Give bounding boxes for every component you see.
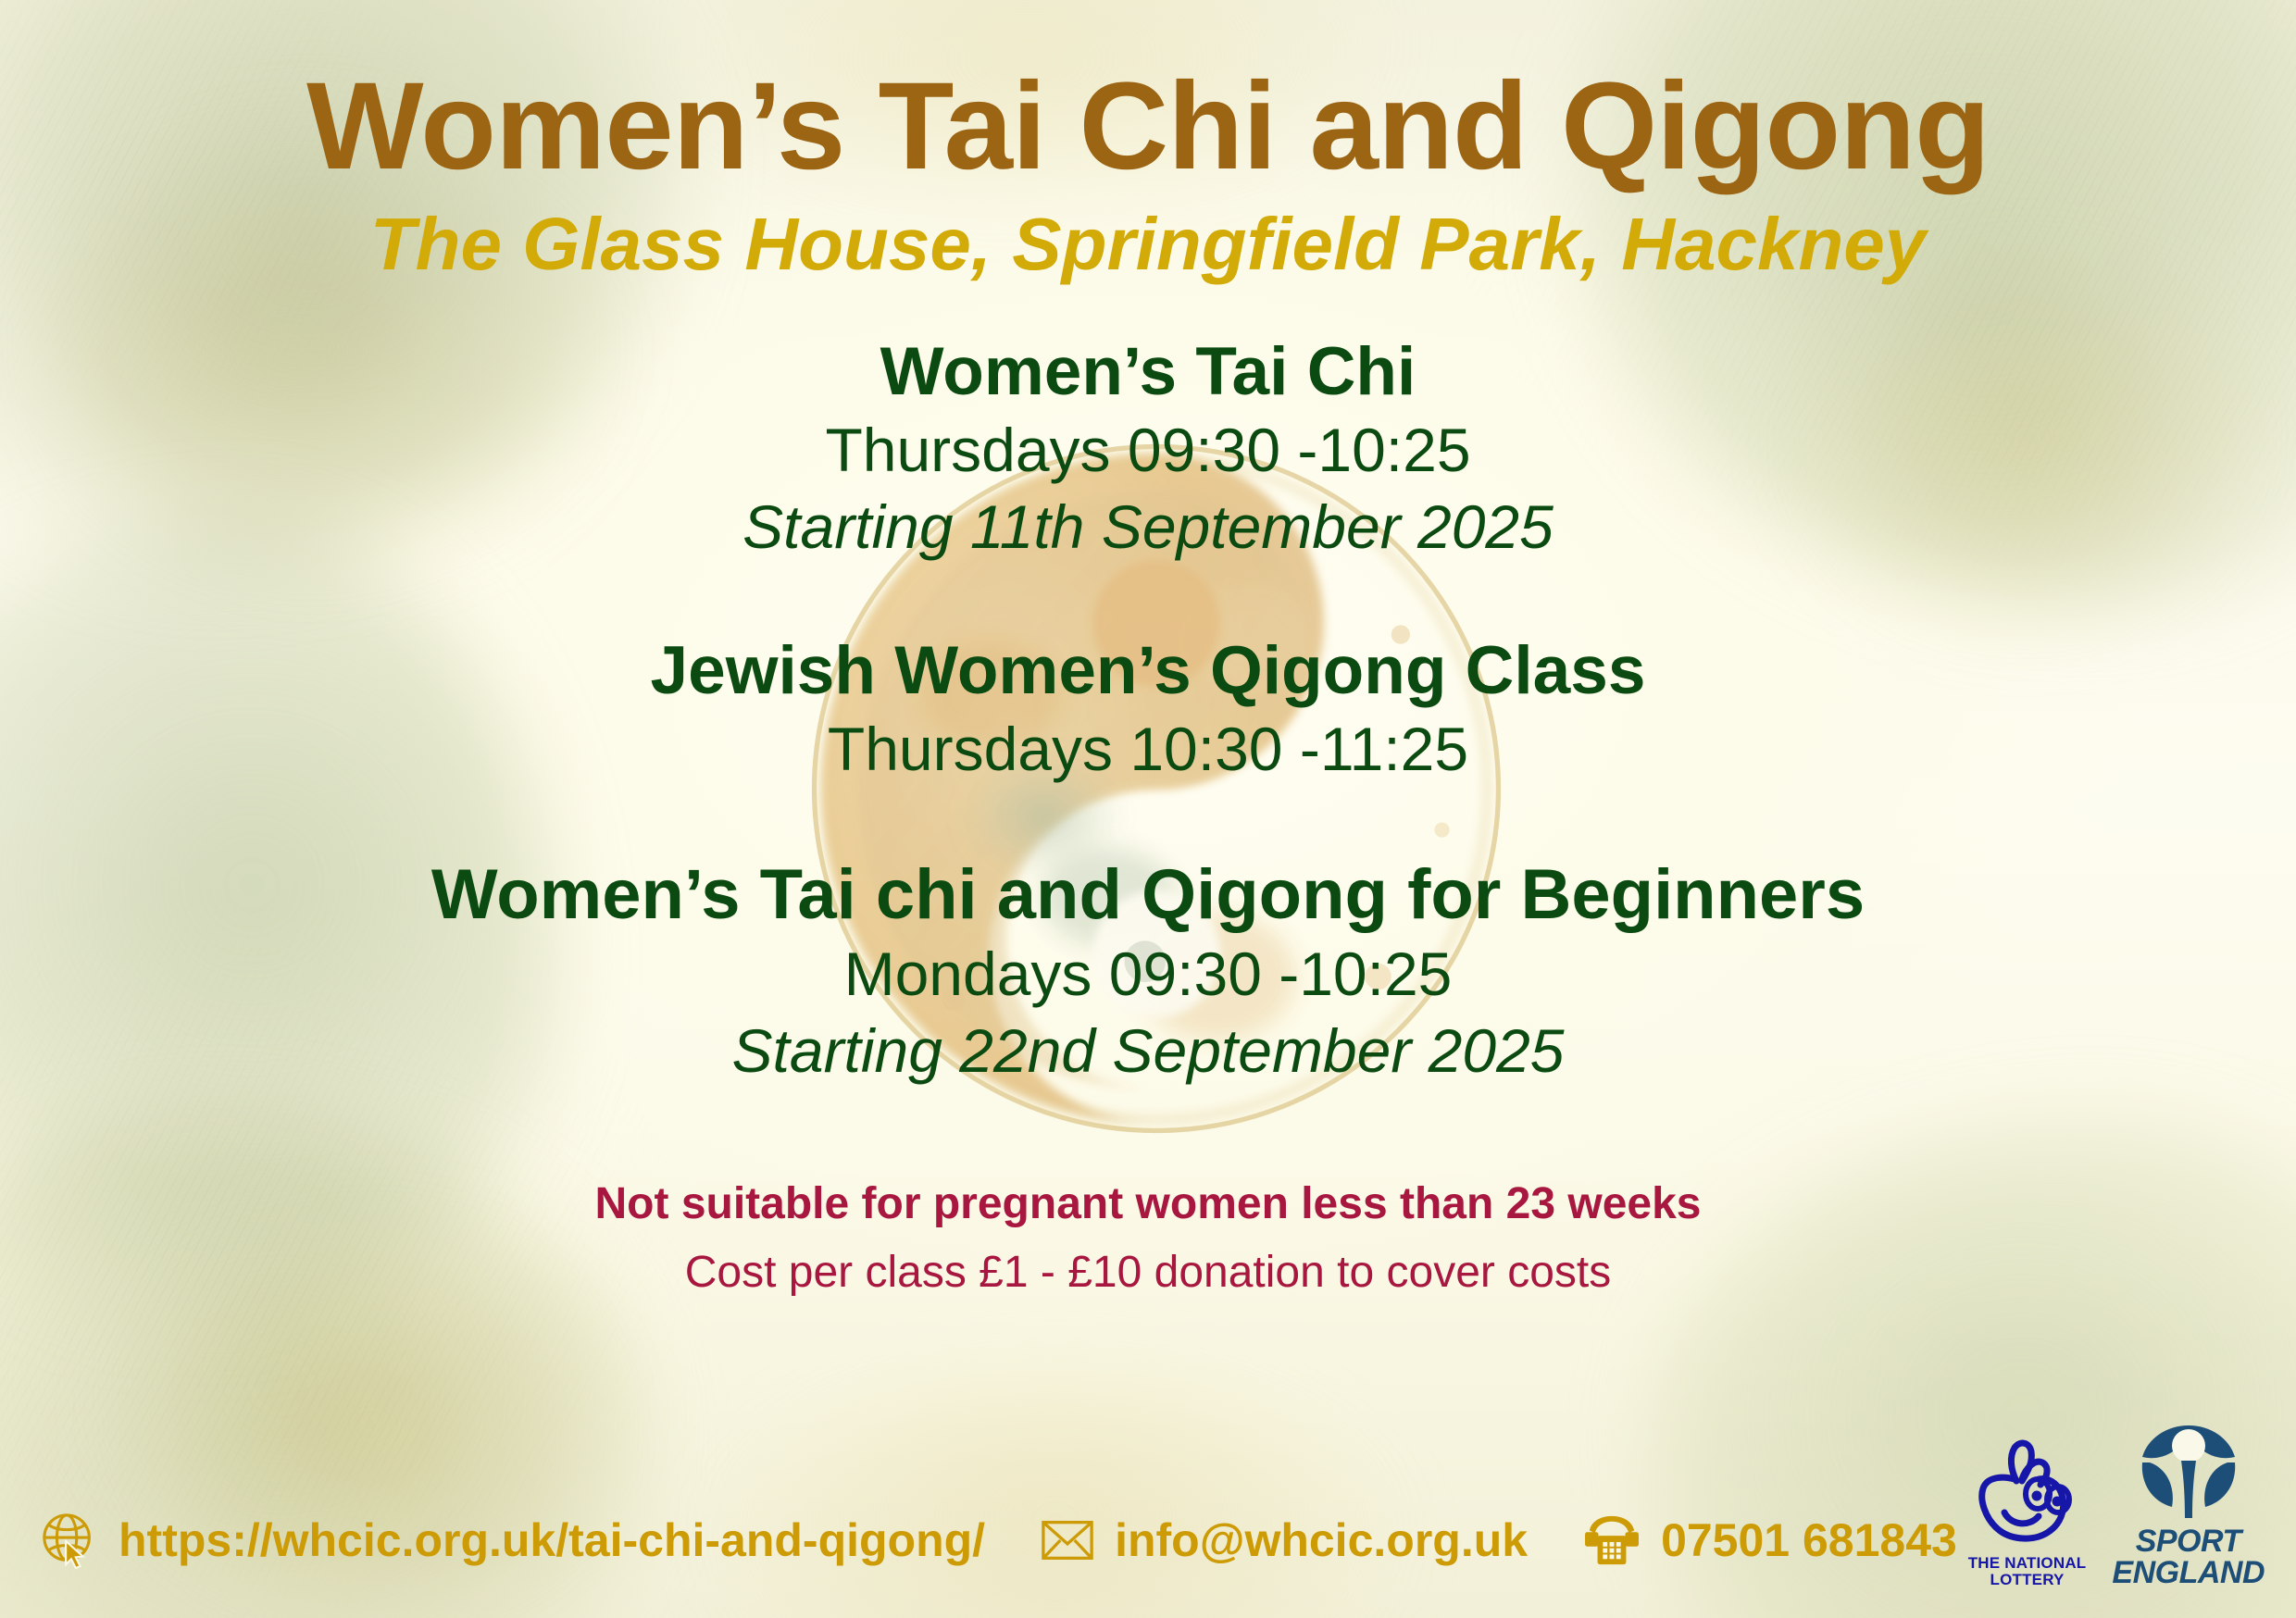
class-block-beginners: Women’s Tai chi and Qigong for Beginners… [431,854,1865,1089]
poster: Women’s Tai Chi and Qigong The Glass Hou… [0,0,2296,1618]
website-url[interactable]: https://whcic.org.uk/tai-chi-and-qigong/ [119,1513,985,1567]
poster-content: Women’s Tai Chi and Qigong The Glass Hou… [0,0,2296,1618]
lottery-label: THE NATIONAL LOTTERY [1968,1555,2087,1588]
venue-subtitle: The Glass House, Springfield Park, Hackn… [370,204,1927,285]
class-block-jewish-womens-qigong: Jewish Women’s Qigong Class Thursdays 10… [651,632,1646,786]
class-start-date: Starting 11th September 2025 [742,491,1554,564]
email-address[interactable]: info@whcic.org.uk [1115,1513,1528,1567]
sport-england-logo: SPORT ENGLAND [2112,1422,2265,1588]
lottery-label-line2: LOTTERY [1968,1572,2087,1588]
notes-section: Not suitable for pregnant women less tha… [595,1176,1702,1301]
envelope-icon [1041,1518,1094,1562]
crossed-fingers-hand-icon [1974,1438,2081,1553]
funder-logos: THE NATIONAL LOTTERY SPORT [1968,1422,2265,1588]
globe-cursor-icon [41,1512,98,1569]
class-list: Women’s Tai Chi Thursdays 09:30 -10:25 S… [0,333,2296,1088]
class-time: Mondays 09:30 -10:25 [431,938,1865,1011]
sport-england-label-line1: SPORT [2112,1525,2265,1557]
contact-bar: https://whcic.org.uk/tai-chi-and-qigong/… [0,1512,1957,1569]
pregnancy-warning: Not suitable for pregnant women less tha… [595,1176,1702,1232]
class-time: Thursdays 10:30 -11:25 [651,713,1646,786]
telephone-icon [1583,1514,1641,1566]
class-block-womens-tai-chi: Women’s Tai Chi Thursdays 09:30 -10:25 S… [742,333,1554,564]
class-name: Jewish Women’s Qigong Class [651,632,1646,711]
cost-note: Cost per class £1 - £10 donation to cove… [595,1245,1702,1301]
phone-number[interactable]: 07501 681843 [1661,1513,1957,1567]
sport-england-label-line2: ENGLAND [2112,1557,2265,1588]
sport-england-figure-icon [2129,1422,2248,1522]
sport-england-label: SPORT ENGLAND [2112,1525,2265,1588]
lottery-label-line1: THE NATIONAL [1968,1555,2087,1572]
page-title: Women’s Tai Chi and Qigong [306,0,1990,193]
national-lottery-logo: THE NATIONAL LOTTERY [1968,1438,2087,1588]
class-time: Thursdays 09:30 -10:25 [742,414,1554,487]
footer: https://whcic.org.uk/tai-chi-and-qigong/… [0,1485,2296,1596]
class-name: Women’s Tai Chi [742,333,1554,412]
class-start-date: Starting 22nd September 2025 [431,1014,1865,1088]
class-name: Women’s Tai chi and Qigong for Beginners [431,854,1865,936]
